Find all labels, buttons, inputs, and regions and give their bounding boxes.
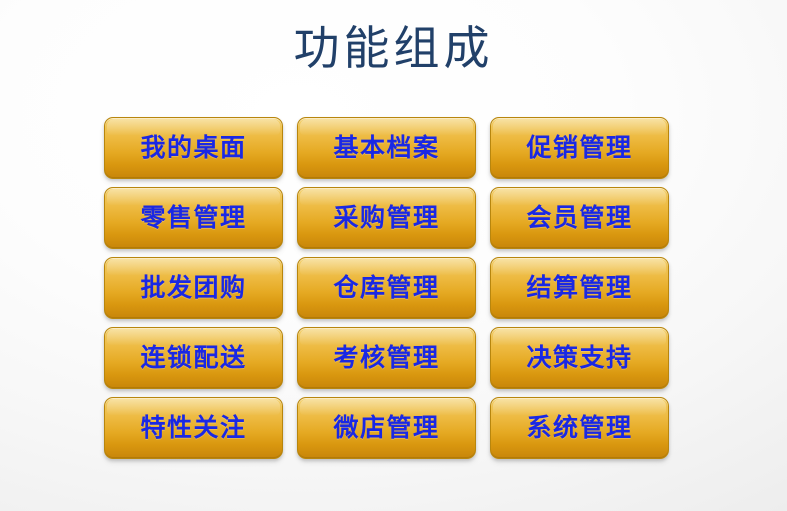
module-button-label: 系统管理 [526, 416, 632, 441]
module-button-label: 采购管理 [333, 206, 439, 231]
module-button-label: 微店管理 [333, 416, 439, 441]
module-button-wholesale-group-buy[interactable]: 批发团购 [104, 257, 283, 319]
module-button-label: 促销管理 [526, 136, 632, 161]
module-button-basic-archive[interactable]: 基本档案 [297, 117, 476, 179]
slide-canvas: 功能组成 我的桌面 基本档案 促销管理 零售管理 采购管理 会员管理 批发团购 … [0, 0, 787, 511]
module-button-assessment-management[interactable]: 考核管理 [297, 327, 476, 389]
module-button-label: 批发团购 [140, 276, 246, 301]
module-button-retail-management[interactable]: 零售管理 [104, 187, 283, 249]
module-button-system-management[interactable]: 系统管理 [490, 397, 669, 459]
module-button-chain-distribution[interactable]: 连锁配送 [104, 327, 283, 389]
module-button-label: 零售管理 [140, 206, 246, 231]
module-button-label: 考核管理 [333, 346, 439, 371]
module-button-decision-support[interactable]: 决策支持 [490, 327, 669, 389]
module-button-label: 连锁配送 [140, 346, 246, 371]
module-button-label: 决策支持 [526, 346, 632, 371]
module-button-member-management[interactable]: 会员管理 [490, 187, 669, 249]
module-button-label: 仓库管理 [333, 276, 439, 301]
module-button-micro-store-management[interactable]: 微店管理 [297, 397, 476, 459]
module-button-label: 会员管理 [526, 206, 632, 231]
module-button-settlement-management[interactable]: 结算管理 [490, 257, 669, 319]
module-button-label: 特性关注 [140, 416, 246, 441]
module-button-label: 结算管理 [526, 276, 632, 301]
module-button-label: 基本档案 [333, 136, 439, 161]
page-title-container: 功能组成 [0, 22, 787, 76]
function-module-grid: 我的桌面 基本档案 促销管理 零售管理 采购管理 会员管理 批发团购 仓库管理 … [104, 117, 669, 459]
module-button-label: 我的桌面 [140, 136, 246, 161]
module-button-feature-focus[interactable]: 特性关注 [104, 397, 283, 459]
page-title: 功能组成 [294, 22, 494, 76]
module-button-purchase-management[interactable]: 采购管理 [297, 187, 476, 249]
module-button-warehouse-management[interactable]: 仓库管理 [297, 257, 476, 319]
module-button-my-desktop[interactable]: 我的桌面 [104, 117, 283, 179]
module-button-promotion-management[interactable]: 促销管理 [490, 117, 669, 179]
